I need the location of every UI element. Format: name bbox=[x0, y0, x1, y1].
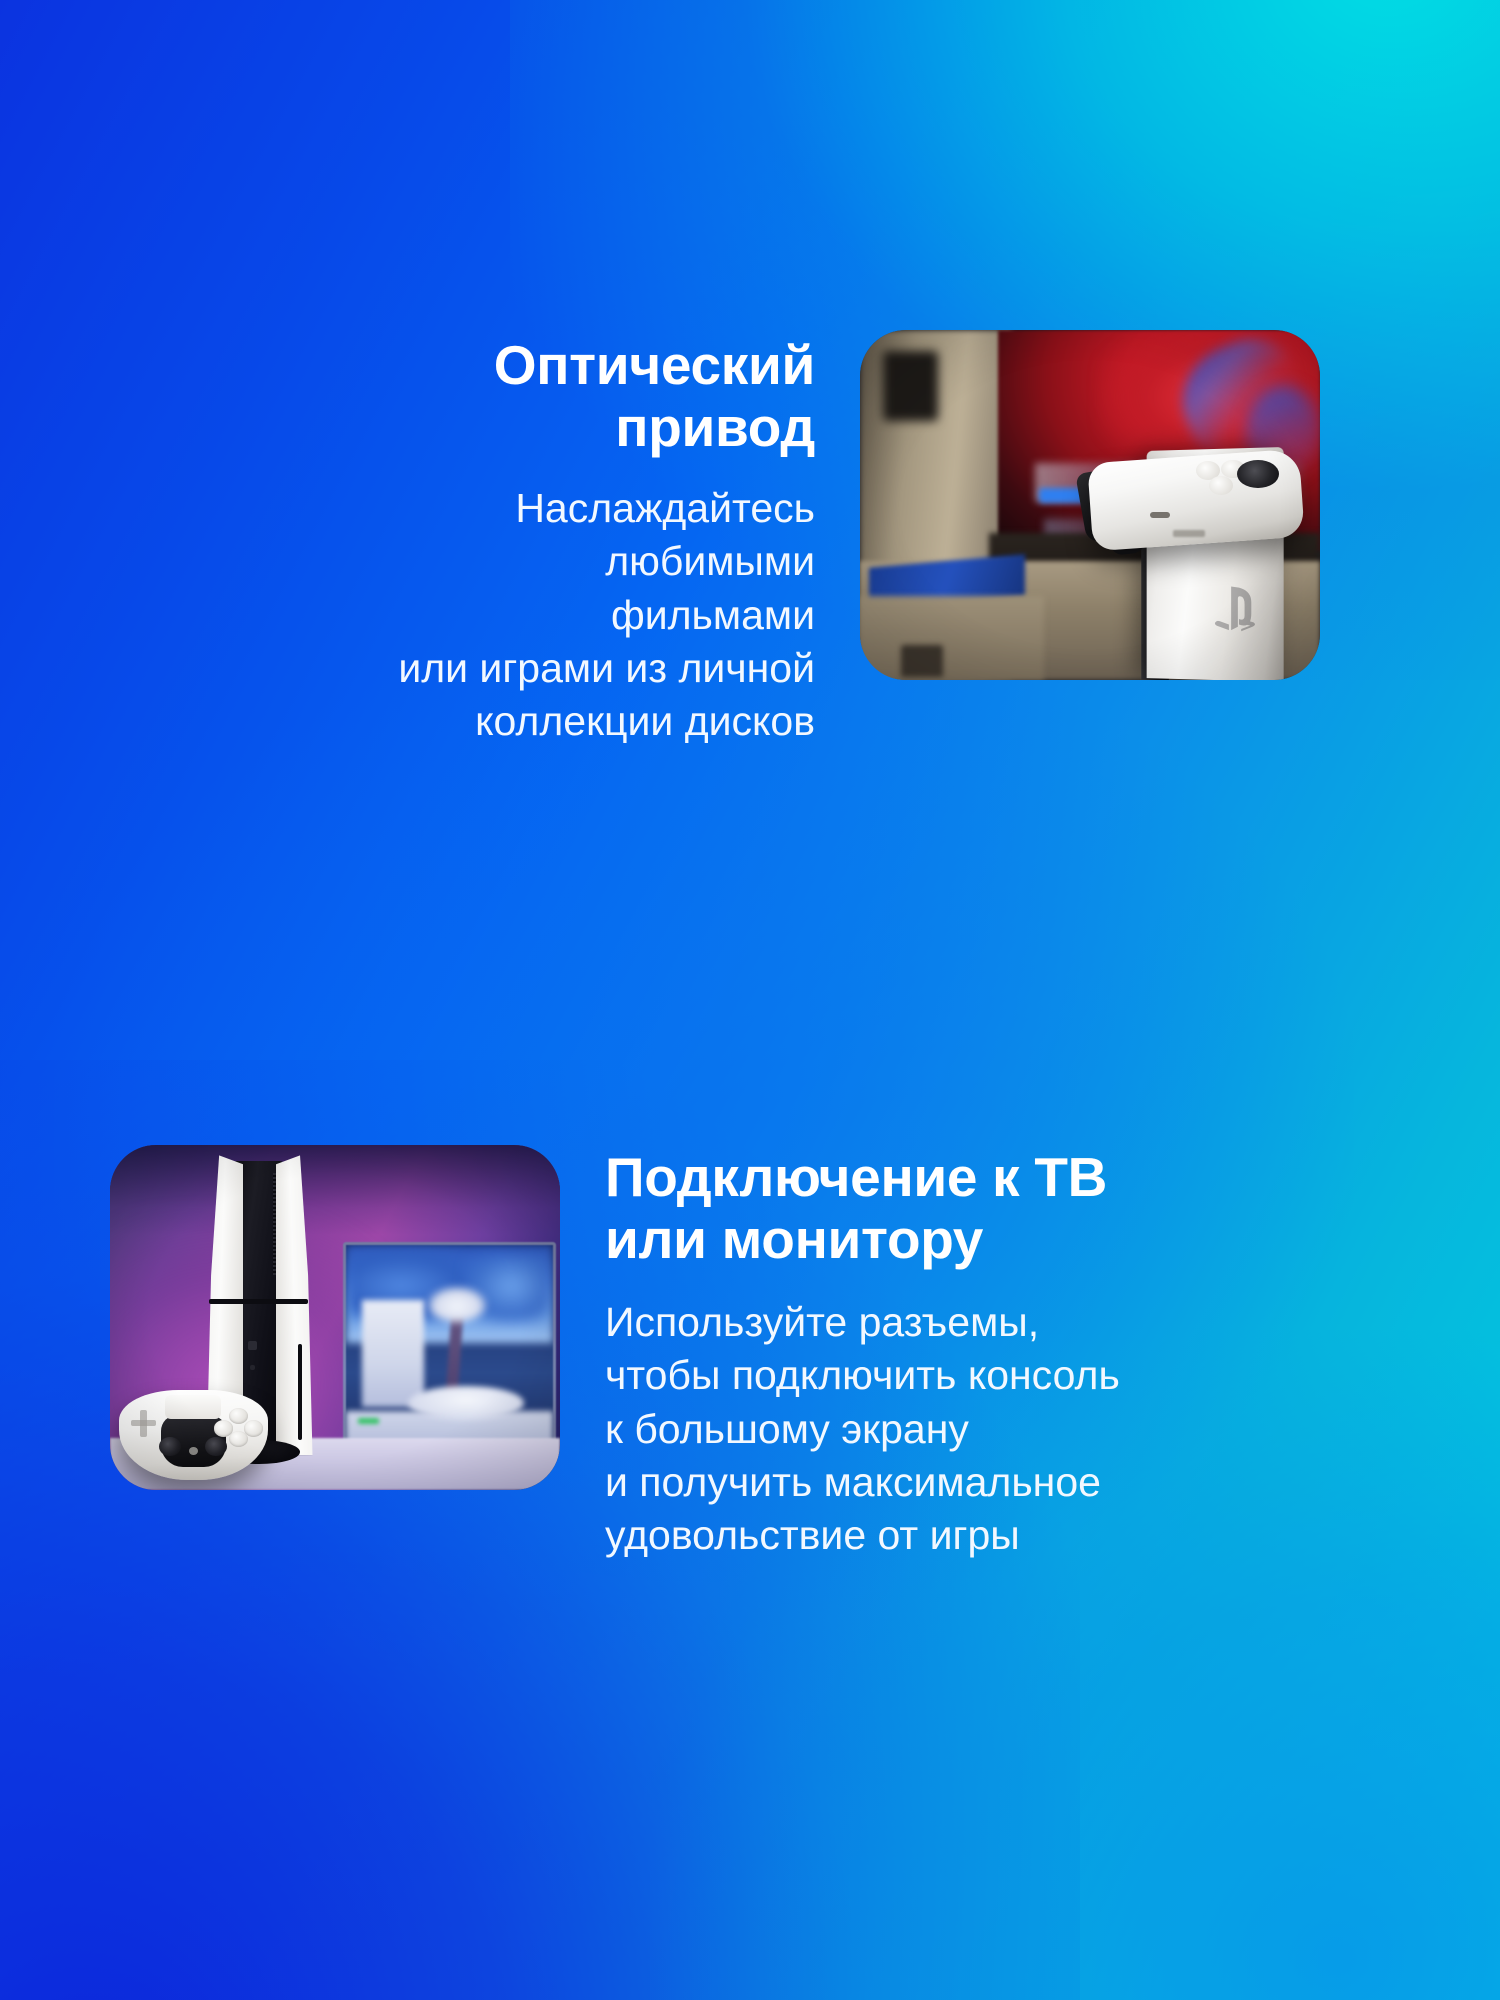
ps5-console-with-dualsense-controller-photo bbox=[860, 330, 1320, 680]
ps5-console-vertical-with-tv-photo bbox=[110, 1145, 560, 1490]
photo1-controller-button-3 bbox=[1209, 476, 1233, 495]
playstation-logo-icon bbox=[1200, 582, 1269, 638]
photo1-box-slot bbox=[901, 645, 942, 677]
photo1-controller-thumbstick bbox=[1237, 460, 1278, 488]
photo2-console-seam bbox=[209, 1299, 308, 1303]
feature-block-optical-drive: Оптический привод Наслаждайтесь любимыми… bbox=[180, 330, 1320, 749]
photo2-tv-scene-canopy bbox=[428, 1287, 486, 1321]
feature-block-tv-connection: Подключение к ТВ или монитору Используйт… bbox=[110, 1145, 1430, 1563]
photo2-tv-scene-plinth bbox=[408, 1386, 524, 1420]
photo2-console-disc-slot bbox=[298, 1344, 302, 1440]
photo1-controller-brand-mark bbox=[1173, 530, 1205, 538]
optical-drive-headline: Оптический привод bbox=[494, 335, 815, 458]
photo2-upper-shadow bbox=[110, 1145, 560, 1235]
photo1-controller-usb-port bbox=[1150, 512, 1171, 518]
photo1-dark-panel bbox=[883, 351, 938, 421]
photo2-dualsense-controller bbox=[119, 1390, 268, 1480]
tv-connection-text-column: Подключение к ТВ или монитору Используйт… bbox=[605, 1145, 1125, 1563]
photo2-controller-square-button bbox=[214, 1420, 233, 1436]
optical-drive-body: Наслаждайтесь любимыми фильмами или игра… bbox=[395, 482, 815, 748]
photo2-controller-touchpad bbox=[165, 1395, 221, 1418]
photo2-console-usb-port bbox=[248, 1341, 258, 1350]
photo2-tv-scene-pillar bbox=[362, 1300, 424, 1407]
tv-connection-body: Используйте разъемы, чтобы подключить ко… bbox=[605, 1296, 1120, 1562]
photo2-controller-triangle-button bbox=[229, 1408, 248, 1424]
optical-drive-text-column: Оптический привод Наслаждайтесь любимыми… bbox=[395, 330, 815, 749]
tv-connection-headline: Подключение к ТВ или монитору bbox=[605, 1147, 1107, 1270]
photo1-lower-box bbox=[860, 596, 1044, 680]
photo2-television bbox=[343, 1242, 556, 1462]
photo2-controller-dpad-icon bbox=[131, 1410, 156, 1437]
photo2-tv-scene-green-accent bbox=[358, 1418, 379, 1424]
promo-poster: Оптический привод Наслаждайтесь любимыми… bbox=[0, 0, 1500, 2000]
photo2-console-right-fin bbox=[276, 1155, 313, 1455]
